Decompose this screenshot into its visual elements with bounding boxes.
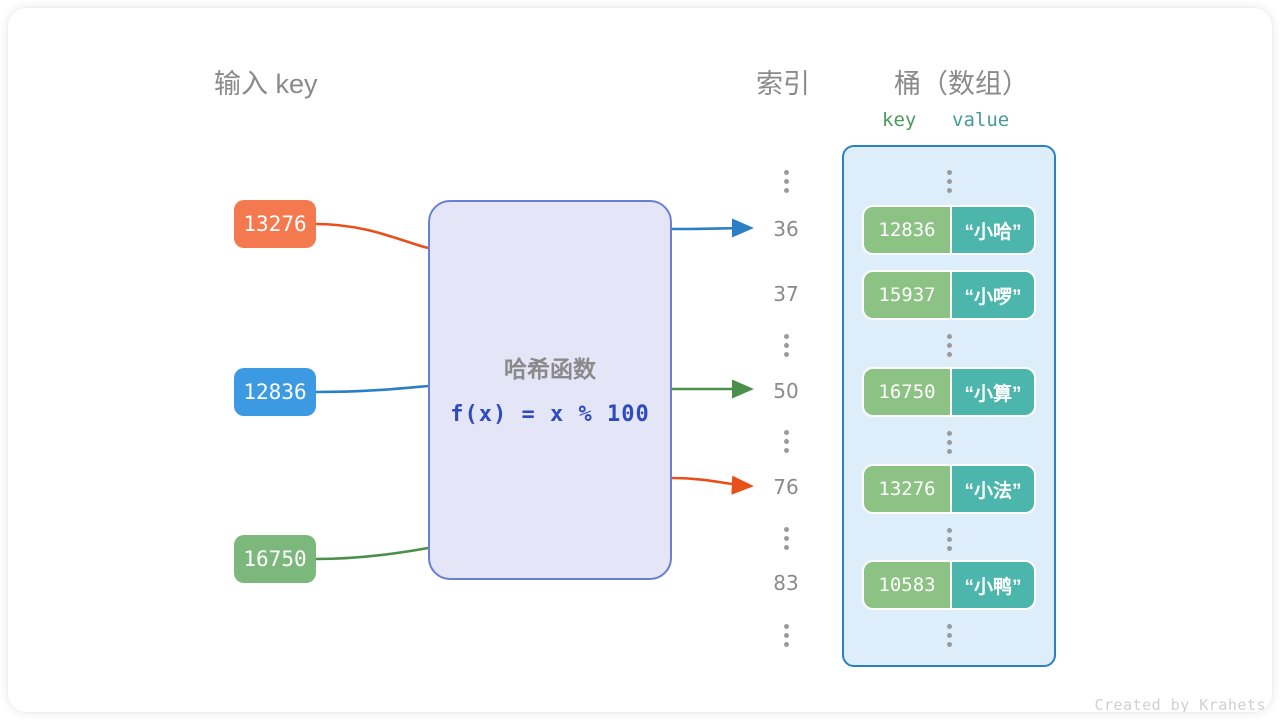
index-label-76: 76 (756, 475, 816, 499)
input-key-13276[interactable]: 13276 (234, 200, 316, 248)
hash-function-formula: f(x) = x % 100 (430, 402, 670, 427)
diagram-card: 输入 key 索引 桶（数组） key value (8, 8, 1272, 712)
bucket-entry-value: “小啰” (952, 272, 1034, 318)
bucket-ellipsis-bottom (862, 620, 1036, 651)
diagram-stage: 输入 key 索引 桶（数组） key value (8, 8, 1272, 712)
bucket-entry-13276[interactable]: 13276 “小法” (862, 464, 1036, 514)
index-ellipsis-top (756, 166, 816, 197)
bucket-entry-key: 13276 (864, 466, 952, 512)
hash-function-title: 哈希函数 (430, 350, 670, 384)
bucket-entry-15937[interactable]: 15937 “小啰” (862, 270, 1036, 320)
index-label-50: 50 (756, 379, 816, 403)
bucket-ellipsis-top (862, 166, 1036, 197)
index-ellipsis-3 (756, 426, 816, 457)
subheader-value: value (952, 109, 1009, 131)
bucket-entry-value: “小法” (952, 466, 1034, 512)
bucket-entry-12836[interactable]: 12836 “小哈” (862, 205, 1036, 255)
bucket-entry-key: 16750 (864, 369, 952, 415)
bucket-entry-16750[interactable]: 16750 “小算” (862, 367, 1036, 417)
bucket-array-container: 12836 “小哈” 15937 “小啰” 16750 “小算” 13276 “… (842, 145, 1056, 667)
index-ellipsis-bottom (756, 620, 816, 651)
bucket-entry-value: “小鸭” (952, 562, 1034, 608)
bucket-entry-value: “小算” (952, 369, 1034, 415)
index-label-83: 83 (756, 571, 816, 595)
hash-function-box: 哈希函数 f(x) = x % 100 (428, 200, 672, 580)
wire-16750-in (316, 548, 428, 559)
wire-12836-out (672, 228, 750, 229)
bucket-ellipsis-4 (862, 524, 1036, 555)
bucket-entry-value: “小哈” (952, 207, 1034, 253)
bucket-entry-key: 15937 (864, 272, 952, 318)
index-ellipsis-2 (756, 330, 816, 361)
bucket-entry-10583[interactable]: 10583 “小鸭” (862, 560, 1036, 610)
input-key-16750[interactable]: 16750 (234, 535, 316, 583)
wire-13276-out (672, 478, 750, 486)
index-ellipsis-4 (756, 523, 816, 554)
subheader-key: key (882, 109, 916, 131)
bucket-entry-key: 10583 (864, 562, 952, 608)
bucket-ellipsis-3 (862, 427, 1036, 458)
index-label-37: 37 (756, 282, 816, 306)
header-input-key: 输入 key (214, 62, 318, 101)
bucket-ellipsis-2 (862, 330, 1036, 361)
header-index: 索引 (756, 62, 810, 101)
bucket-entry-key: 12836 (864, 207, 952, 253)
header-bucket: 桶（数组） (894, 62, 1029, 101)
wire-12836-in (316, 386, 428, 392)
footer-credit: Created by Krahets (1094, 696, 1266, 712)
input-key-12836[interactable]: 12836 (234, 368, 316, 416)
index-label-36: 36 (756, 217, 816, 241)
wire-13276-in (316, 224, 428, 248)
